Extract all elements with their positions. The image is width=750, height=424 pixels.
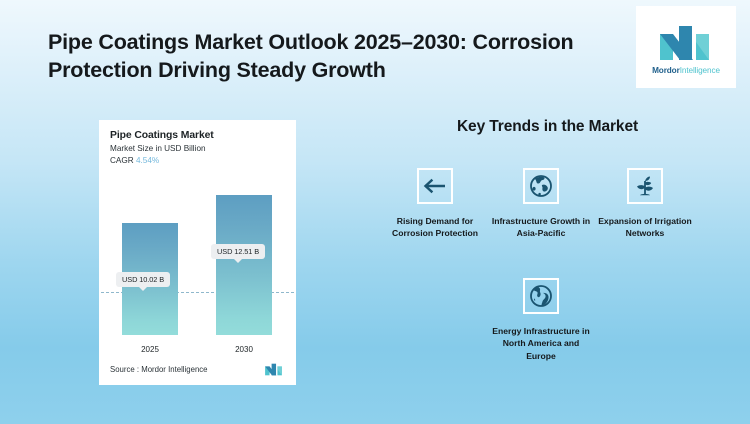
globe-asia-icon-glyph [529,174,553,198]
brand-name-light: Intelligence [680,66,720,75]
chart-subtitle: Market Size in USD Billion [110,144,285,153]
bar-chart-plot: USD 10.02 B USD 12.51 B 2025 2030 [99,182,296,360]
brand-name-bold: Mordor [652,66,680,75]
plant-sprout-icon-glyph [633,174,657,198]
chart-source: Source : Mordor Intelligence [110,365,208,374]
market-size-chart-card: Pipe Coatings Market Market Size in USD … [99,120,296,385]
trend-item-apac-infrastructure: Infrastructure Growth in Asia-Pacific [489,168,593,240]
bar-2030 [216,195,272,335]
mordor-intelligence-logo-icon [656,24,716,62]
page-title: Pipe Coatings Market Outlook 2025–2030: … [48,28,628,85]
trend-label: Infrastructure Growth in Asia-Pacific [489,215,593,240]
cagr-value: 4.54% [136,156,159,165]
cagr-label: CAGR [110,156,134,165]
trend-label: Energy Infrastructure in North America a… [489,325,593,362]
globe-americas-icon [523,278,559,314]
plant-sprout-icon [627,168,663,204]
brand-logo: MordorIntelligence [636,6,736,88]
trend-item-irrigation-networks: Expansion of Irrigation Networks [593,168,697,240]
arrow-left-icon-glyph [423,178,447,194]
trend-label: Expansion of Irrigation Networks [593,215,697,240]
key-trends-title: Key Trends in the Market [395,118,700,136]
chart-title: Pipe Coatings Market [110,130,285,141]
trend-item-rising-demand: Rising Demand for Corrosion Protection [383,168,487,240]
globe-americas-icon-glyph [529,284,553,308]
trend-label: Rising Demand for Corrosion Protection [383,215,487,240]
x-axis-tick-2025: 2025 [122,345,178,354]
chart-cagr: CAGR 4.54% [110,156,285,165]
bar-value-label-2025: USD 10.02 B [116,272,170,287]
globe-asia-icon [523,168,559,204]
trend-item-energy-infrastructure: Energy Infrastructure in North America a… [489,278,593,362]
x-axis-tick-2030: 2030 [216,345,272,354]
mordor-intelligence-footer-logo-icon [263,363,285,376]
bar-value-label-2030: USD 12.51 B [211,244,265,259]
chart-footer: Source : Mordor Intelligence [110,363,285,376]
brand-logo-text: MordorIntelligence [652,66,720,75]
arrow-left-icon [417,168,453,204]
